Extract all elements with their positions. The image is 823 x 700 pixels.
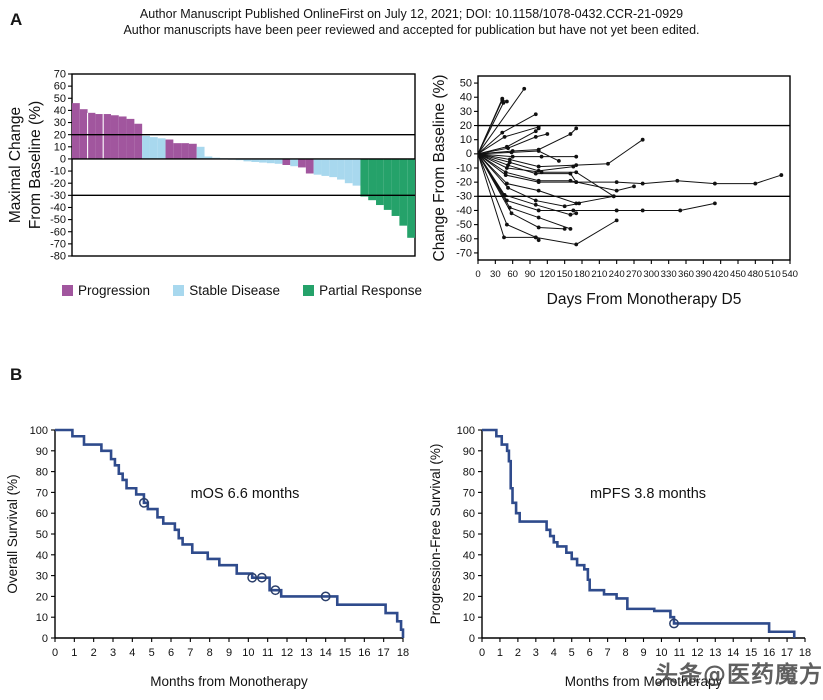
waterfall-bar — [111, 115, 119, 159]
pfs-y-tick-label: 60 — [463, 508, 475, 520]
spider-x-tick-label: 420 — [713, 269, 729, 280]
panel-b-label: B — [10, 365, 22, 385]
waterfall-y-axis-title: Maximal ChangeFrom Baseline (%) — [7, 101, 44, 229]
spider-data-point — [504, 173, 508, 177]
spider-data-point — [502, 235, 506, 239]
spider-data-point — [641, 209, 645, 213]
os-x-tick-label: 2 — [91, 647, 97, 659]
spider-series-line — [478, 154, 781, 184]
spider-x-tick-label: 90 — [525, 269, 536, 280]
os-x-tick-label: 18 — [397, 647, 409, 659]
pfs-y-tick-label: 0 — [469, 633, 475, 645]
os-x-tick-label: 14 — [320, 647, 332, 659]
waterfall-y-tick-label: -80 — [50, 251, 66, 263]
legend-swatch-partial-response — [303, 285, 314, 296]
spider-data-point — [534, 172, 538, 176]
os-x-tick-label: 15 — [339, 647, 351, 659]
spider-data-point — [537, 189, 541, 193]
os-x-tick-label: 1 — [71, 647, 77, 659]
waterfall-bar — [306, 159, 314, 174]
manuscript-header-line1: Author Manuscript Published OnlineFirst … — [0, 6, 823, 22]
spider-x-tick-label: 300 — [643, 269, 659, 280]
waterfall-bar — [329, 159, 337, 177]
spider-data-point — [571, 209, 575, 213]
spider-y-tick-label: -60 — [456, 233, 472, 245]
pfs-x-tick-label: 9 — [640, 647, 646, 659]
waterfall-y-axis-title-line1: Maximal Change — [7, 107, 24, 223]
os-x-tick-label: 6 — [168, 647, 174, 659]
pfs-y-tick-label: 50 — [463, 529, 475, 541]
spider-x-tick-label: 120 — [539, 269, 555, 280]
pfs-x-tick-label: 5 — [569, 647, 575, 659]
spider-y-tick-label: 50 — [460, 77, 472, 89]
os-step-line — [55, 430, 403, 638]
spider-data-point — [534, 129, 538, 133]
waterfall-y-tick-label: 20 — [54, 129, 66, 141]
waterfall-y-tick-label: 60 — [54, 81, 66, 93]
waterfall-bar — [197, 147, 205, 159]
waterfall-y-tick-label: -40 — [50, 202, 66, 214]
waterfall-bar — [142, 136, 150, 159]
spider-data-point — [537, 165, 541, 169]
waterfall-bar — [337, 159, 345, 180]
spider-data-point — [540, 155, 544, 159]
waterfall-bar — [368, 159, 376, 200]
spider-data-point — [779, 173, 783, 177]
spider-data-point — [615, 218, 619, 222]
spider-data-point — [615, 209, 619, 213]
spider-y-tick-label: 20 — [460, 120, 472, 132]
spider-data-point — [502, 101, 506, 105]
spider-data-point — [534, 235, 538, 239]
os-x-tick-label: 5 — [149, 647, 155, 659]
os-x-tick-label: 17 — [378, 647, 390, 659]
pfs-x-tick-label: 1 — [497, 647, 503, 659]
waterfall-bar — [384, 159, 392, 210]
waterfall-y-tick-label: -50 — [50, 214, 66, 226]
spider-x-tick-label: 360 — [678, 269, 694, 280]
spider-data-point — [506, 146, 510, 150]
legend-swatch-progression — [62, 285, 73, 296]
pfs-y-tick-label: 30 — [463, 571, 475, 583]
waterfall-bar — [103, 114, 111, 159]
waterfall-bar — [181, 143, 189, 159]
spider-data-point — [569, 227, 573, 231]
waterfall-bar — [407, 159, 415, 238]
os-y-tick-label: 100 — [30, 425, 48, 437]
os-x-tick-label: 13 — [300, 647, 312, 659]
os-y-tick-label: 0 — [42, 633, 48, 645]
waterfall-legend: Progression Stable Disease Partial Respo… — [62, 283, 422, 298]
spider-y-tick-label: -50 — [456, 219, 472, 231]
pfs-y-tick-label: 90 — [463, 446, 475, 458]
os-x-tick-label: 0 — [52, 647, 58, 659]
spider-x-tick-label: 0 — [475, 269, 480, 280]
waterfall-bar — [95, 114, 103, 159]
spider-data-point — [615, 180, 619, 184]
waterfall-svg: 706050403020100-10-20-30-40-50-60-70-80M… — [0, 60, 430, 285]
waterfall-y-tick-label: -20 — [50, 178, 66, 190]
spider-y-tick-label: 10 — [460, 134, 472, 146]
pfs-median-annotation: mPFS 3.8 months — [590, 486, 706, 502]
spider-data-point — [641, 138, 645, 142]
spider-y-tick-label: -30 — [456, 191, 472, 203]
waterfall-y-tick-label: 50 — [54, 93, 66, 105]
spider-data-point — [537, 209, 541, 213]
pfs-y-tick-label: 20 — [463, 591, 475, 603]
waterfall-bar — [127, 119, 135, 159]
waterfall-bar — [119, 116, 127, 158]
waterfall-bar — [321, 159, 329, 176]
manuscript-header: Author Manuscript Published OnlineFirst … — [0, 6, 823, 38]
spider-data-point — [574, 180, 578, 184]
waterfall-bar — [399, 159, 407, 226]
spider-data-point — [563, 204, 567, 208]
spider-x-tick-label: 510 — [765, 269, 781, 280]
waterfall-bar — [275, 159, 283, 164]
pfs-y-tick-label: 70 — [463, 487, 475, 499]
waterfall-y-axis-title-line2: From Baseline (%) — [27, 101, 44, 229]
waterfall-y-tick-label: 70 — [54, 69, 66, 81]
waterfall-y-tick-label: -60 — [50, 226, 66, 238]
waterfall-bar — [298, 159, 306, 167]
spider-y-tick-label: -20 — [456, 177, 472, 189]
os-y-tick-label: 10 — [36, 612, 48, 624]
waterfall-y-tick-label: 10 — [54, 141, 66, 153]
waterfall-bar — [392, 159, 400, 216]
spider-x-tick-label: 480 — [747, 269, 763, 280]
spider-data-point — [569, 132, 573, 136]
spider-y-tick-label: -70 — [456, 247, 472, 259]
spider-x-tick-label: 540 — [782, 269, 798, 280]
legend-label-stable-disease: Stable Disease — [189, 283, 280, 298]
waterfall-bar — [290, 159, 298, 166]
pfs-x-tick-label: 8 — [622, 647, 628, 659]
spider-data-point — [678, 209, 682, 213]
waterfall-bar — [360, 159, 368, 197]
spider-data-point — [574, 243, 578, 247]
pfs-y-tick-label: 10 — [463, 612, 475, 624]
overall-survival-chart: 0102030405060708090100012345678910111213… — [0, 400, 420, 700]
spider-data-point — [537, 149, 541, 153]
spider-data-point — [506, 186, 510, 190]
spider-x-tick-label: 30 — [490, 269, 501, 280]
spider-x-axis-title: Days From Monotherapy D5 — [547, 291, 742, 308]
spider-data-point — [500, 131, 504, 135]
spider-svg: 50403020100-10-20-30-40-50-60-7003060901… — [430, 60, 823, 315]
spider-data-point — [537, 226, 541, 230]
spider-data-point — [574, 170, 578, 174]
os-y-tick-label: 90 — [36, 446, 48, 458]
spider-x-tick-label: 60 — [507, 269, 518, 280]
spider-x-tick-label: 180 — [574, 269, 590, 280]
os-y-tick-label: 60 — [36, 508, 48, 520]
waterfall-y-tick-label: 0 — [60, 154, 66, 166]
spider-x-tick-label: 390 — [695, 269, 711, 280]
spider-x-tick-label: 210 — [591, 269, 607, 280]
spider-data-point — [510, 211, 514, 215]
spider-data-point — [505, 223, 509, 227]
spider-series-line — [478, 154, 570, 229]
waterfall-bar — [72, 103, 80, 159]
waterfall-y-tick-label: -70 — [50, 238, 66, 250]
os-y-axis-title: Overall Survival (%) — [5, 474, 20, 593]
spider-series-group — [478, 87, 783, 246]
spider-data-point — [574, 211, 578, 215]
spider-data-point — [753, 182, 757, 186]
panel-a-label: A — [10, 10, 22, 30]
spider-data-point — [612, 194, 616, 198]
os-y-tick-label: 50 — [36, 529, 48, 541]
pfs-y-tick-label: 100 — [457, 425, 475, 437]
legend-label-progression: Progression — [78, 283, 150, 298]
spider-x-tick-label: 450 — [730, 269, 746, 280]
spider-data-point — [545, 132, 549, 136]
spider-y-tick-label: 0 — [466, 148, 472, 160]
spider-chart: 50403020100-10-20-30-40-50-60-7003060901… — [430, 60, 823, 315]
spider-data-point — [510, 151, 514, 155]
legend-label-partial-response: Partial Response — [319, 283, 422, 298]
spider-data-point — [540, 170, 544, 174]
overall-survival-svg: 0102030405060708090100012345678910111213… — [0, 400, 420, 700]
spider-data-point — [615, 189, 619, 193]
spider-series-line — [478, 154, 565, 229]
pfs-step-line — [482, 430, 794, 638]
spider-data-point — [713, 201, 717, 205]
os-y-tick-label: 70 — [36, 487, 48, 499]
pfs-x-tick-label: 3 — [533, 647, 539, 659]
spider-data-point — [534, 135, 538, 139]
spider-data-point — [571, 165, 575, 169]
waterfall-bar — [158, 138, 166, 159]
legend-item-stable-disease: Stable Disease — [173, 283, 280, 298]
spider-y-tick-label: 40 — [460, 92, 472, 104]
spider-y-axis-title: Change From Baseline (%) — [431, 75, 448, 262]
os-median-annotation: mOS 6.6 months — [191, 486, 300, 502]
spider-data-point — [522, 87, 526, 91]
spider-data-point — [537, 126, 541, 130]
waterfall-bar — [345, 159, 353, 183]
spider-data-point — [505, 100, 509, 104]
waterfall-bar — [314, 159, 322, 175]
spider-data-point — [675, 179, 679, 183]
os-x-tick-label: 3 — [110, 647, 116, 659]
legend-item-progression: Progression — [62, 283, 150, 298]
waterfall-chart: 706050403020100-10-20-30-40-50-60-70-80M… — [0, 60, 430, 285]
waterfall-y-tick-label: -30 — [50, 190, 66, 202]
os-x-tick-label: 9 — [226, 647, 232, 659]
spider-data-point — [713, 182, 717, 186]
legend-swatch-stable-disease — [173, 285, 184, 296]
waterfall-bar — [376, 159, 384, 205]
spider-x-tick-label: 330 — [661, 269, 677, 280]
spider-data-point — [563, 227, 567, 231]
spider-data-point — [534, 112, 538, 116]
os-y-tick-label: 30 — [36, 571, 48, 583]
spider-data-point — [574, 126, 578, 130]
os-x-tick-label: 7 — [187, 647, 193, 659]
spider-data-point — [537, 238, 541, 242]
spider-data-point — [632, 185, 636, 189]
spider-y-tick-label: 30 — [460, 106, 472, 118]
spider-x-tick-label: 240 — [609, 269, 625, 280]
watermark: 头条@医药魔方 — [655, 655, 823, 689]
spider-x-tick-label: 270 — [626, 269, 642, 280]
spider-data-point — [557, 159, 561, 163]
os-x-tick-label: 16 — [358, 647, 370, 659]
waterfall-bars — [72, 103, 415, 238]
spider-data-point — [511, 155, 515, 159]
waterfall-bar — [88, 113, 96, 159]
waterfall-bar — [189, 144, 197, 159]
os-x-tick-label: 12 — [281, 647, 293, 659]
spider-data-point — [574, 155, 578, 159]
spider-data-point — [569, 213, 573, 217]
spider-data-point — [641, 182, 645, 186]
waterfall-y-tick-label: 40 — [54, 105, 66, 117]
legend-item-partial-response: Partial Response — [303, 283, 422, 298]
os-x-axis-title: Months from Monotherapy — [150, 674, 308, 689]
pfs-y-tick-label: 80 — [463, 467, 475, 479]
waterfall-bar — [173, 143, 181, 159]
waterfall-bar — [282, 159, 290, 165]
waterfall-bar — [134, 124, 142, 159]
os-x-tick-label: 8 — [207, 647, 213, 659]
waterfall-bar — [353, 159, 361, 186]
pfs-x-tick-label: 0 — [479, 647, 485, 659]
spider-data-point — [534, 199, 538, 203]
spider-y-tick-label: -40 — [456, 205, 472, 217]
waterfall-y-tick-label: -10 — [50, 166, 66, 178]
os-y-tick-label: 80 — [36, 467, 48, 479]
spider-data-point — [503, 135, 507, 139]
os-x-tick-label: 4 — [129, 647, 135, 659]
pfs-y-axis-title: Progression-Free Survival (%) — [428, 444, 443, 625]
waterfall-bar — [150, 137, 158, 159]
os-x-tick-label: 11 — [262, 647, 273, 659]
spider-x-tick-label: 150 — [557, 269, 573, 280]
pfs-x-tick-label: 2 — [515, 647, 521, 659]
spider-data-point — [606, 162, 610, 166]
spider-data-point — [537, 216, 541, 220]
waterfall-y-tick-label: 30 — [54, 117, 66, 129]
spider-y-tick-label: -10 — [456, 162, 472, 174]
spider-data-point — [505, 166, 509, 170]
manuscript-header-line2: Author manuscripts have been peer review… — [0, 22, 823, 38]
spider-data-point — [577, 201, 581, 205]
spider-data-point — [534, 203, 538, 207]
pfs-x-tick-label: 4 — [551, 647, 557, 659]
pfs-x-tick-label: 6 — [587, 647, 593, 659]
waterfall-bar — [166, 140, 174, 159]
os-x-tick-label: 10 — [242, 647, 254, 659]
pfs-x-tick-label: 7 — [605, 647, 611, 659]
pfs-y-tick-label: 40 — [463, 550, 475, 562]
spider-data-point — [537, 180, 541, 184]
os-y-tick-label: 20 — [36, 591, 48, 603]
os-y-tick-label: 40 — [36, 550, 48, 562]
